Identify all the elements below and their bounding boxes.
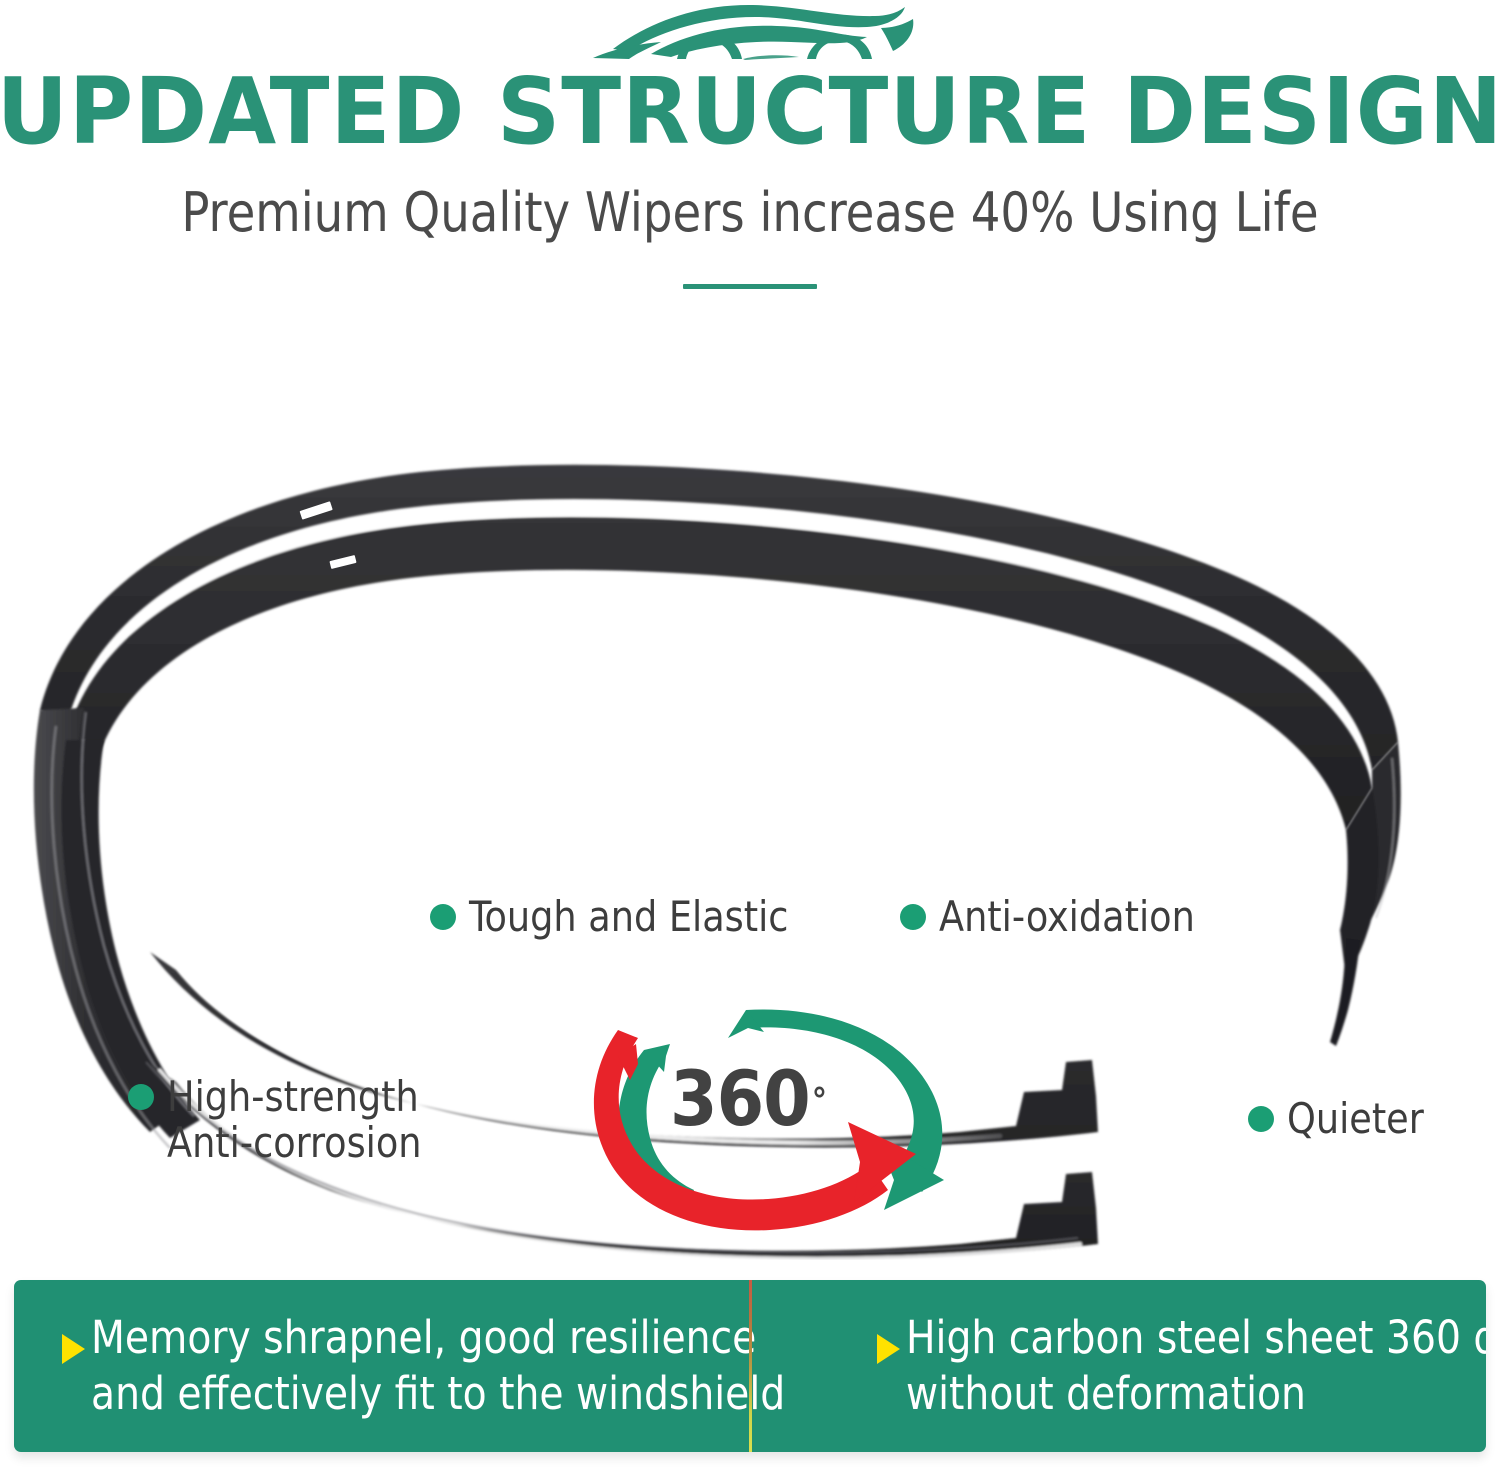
car-silhouette-icon: [585, 2, 915, 64]
banner-panel-high-carbon-steel: High carbon steel sheet 360 degreeswitho…: [807, 1280, 1486, 1452]
banner-line2: without deformation: [906, 1366, 1486, 1422]
banner-line2: and effectively fit to the windshield: [91, 1366, 785, 1422]
play-triangle-icon: [62, 1334, 85, 1364]
badge-number: 360: [670, 1054, 810, 1143]
feature-tough-and-elastic: Tough and Elastic: [430, 894, 798, 940]
360-degree-rotation-badge: 360°: [578, 1004, 958, 1240]
play-triangle-icon: [877, 1334, 900, 1364]
feature-high-strength-anti-corrosion: High-strengthAnti-corrosion: [128, 1074, 429, 1166]
feature-label-line2: Anti-corrosion: [167, 1120, 422, 1166]
feature-label: Tough and Elastic: [469, 894, 788, 940]
degree-symbol: °: [812, 1081, 826, 1121]
bullet-dot-icon: [128, 1084, 154, 1110]
feature-label: Quieter: [1287, 1096, 1424, 1142]
banner-divider: [749, 1280, 752, 1452]
feature-label: Anti-oxidation: [939, 894, 1195, 940]
page-title: UPDATED STRUCTURE DESIGN: [0, 62, 1500, 162]
page-subtitle: Premium Quality Wipers increase 40% Usin…: [30, 180, 1470, 246]
banner-line1: High carbon steel sheet 360 degrees: [906, 1311, 1486, 1364]
bullet-dot-icon: [900, 904, 926, 930]
banner-text: Memory shrapnel, good resilienceand effe…: [91, 1310, 785, 1422]
banner-text: High carbon steel sheet 360 degreeswitho…: [906, 1310, 1486, 1422]
product-stage: Tough and Elastic Anti-oxidation High-st…: [0, 310, 1500, 1260]
feature-label-line1: High-strength: [167, 1072, 419, 1121]
bullet-dot-icon: [1248, 1106, 1274, 1132]
banner-line1: Memory shrapnel, good resilience: [91, 1311, 756, 1364]
header-section: UPDATED STRUCTURE DESIGN Premium Quality…: [0, 0, 1500, 310]
feature-quieter: Quieter: [1248, 1096, 1428, 1142]
feature-label-multiline: High-strengthAnti-corrosion: [167, 1074, 422, 1166]
bullet-dot-icon: [430, 904, 456, 930]
feature-banner: Memory shrapnel, good resilienceand effe…: [14, 1280, 1486, 1452]
banner-panel-memory-shrapnel: Memory shrapnel, good resilienceand effe…: [14, 1280, 807, 1452]
feature-anti-oxidation: Anti-oxidation: [900, 894, 1203, 940]
badge-value: 360°: [670, 1059, 890, 1139]
title-divider: [683, 284, 817, 289]
